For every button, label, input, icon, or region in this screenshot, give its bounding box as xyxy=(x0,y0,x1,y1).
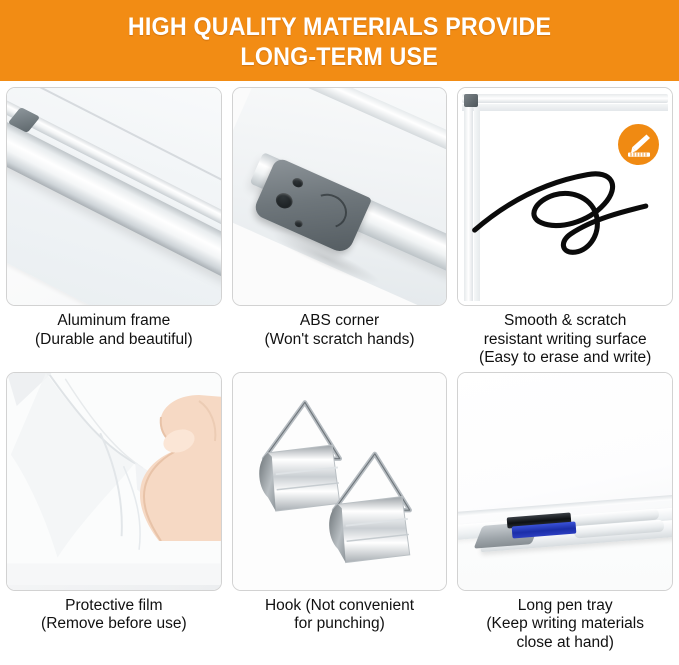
caption-line: for punching) xyxy=(232,615,448,634)
marker-and-eraser-icon xyxy=(624,130,654,160)
hand-peeling-film-icon xyxy=(107,391,222,541)
photo-protective-film xyxy=(6,372,222,591)
caption-line: Aluminum frame xyxy=(6,312,222,331)
feature-cell-pen-tray: Long pen tray (Keep writing materials cl… xyxy=(457,372,673,653)
feature-row-bottom: Protective film (Remove before use) xyxy=(6,372,673,653)
caption-hook: Hook (Not convenient for punching) xyxy=(232,597,448,634)
caption-line: Smooth & scratch xyxy=(457,312,673,331)
photo-aluminum-frame xyxy=(6,87,222,306)
header-banner: HIGH QUALITY MATERIALS PROVIDE LONG-TERM… xyxy=(0,0,679,81)
caption-aluminum-frame: Aluminum frame (Durable and beautiful) xyxy=(6,312,222,349)
caption-line: Long pen tray xyxy=(457,597,673,616)
caption-pen-tray: Long pen tray (Keep writing materials cl… xyxy=(457,597,673,653)
banner-title-line-2: LONG-TERM USE xyxy=(241,42,438,72)
caption-line: (Won't scratch hands) xyxy=(232,331,448,350)
feature-row-top: Aluminum frame (Durable and beautiful) xyxy=(6,87,673,368)
feature-grid: Aluminum frame (Durable and beautiful) xyxy=(0,81,679,652)
feature-cell-writing-surface: Smooth & scratch resistant writing surfa… xyxy=(457,87,673,368)
screw-hole-icon xyxy=(291,176,305,189)
caption-line: resistant writing surface xyxy=(457,331,673,350)
screw-hole-icon xyxy=(294,219,304,229)
caption-line: (Keep writing materials xyxy=(457,615,673,634)
screw-hole-icon xyxy=(274,190,296,211)
caption-writing-surface: Smooth & scratch resistant writing surfa… xyxy=(457,312,673,368)
feature-cell-hook: Hook (Not convenient for punching) xyxy=(232,372,448,653)
caption-line: close at hand) xyxy=(457,634,673,653)
caption-line: (Remove before use) xyxy=(6,615,222,634)
frame-top-rail xyxy=(462,94,668,103)
feature-cell-aluminum-frame: Aluminum frame (Durable and beautiful) xyxy=(6,87,222,368)
caption-line: ABS corner xyxy=(232,312,448,331)
photo-writing-surface xyxy=(457,87,673,306)
photo-abs-corner xyxy=(232,87,448,306)
photo-pen-tray xyxy=(457,372,673,591)
photo-hook xyxy=(232,372,448,591)
banner-title-line-1: HIGH QUALITY MATERIALS PROVIDE xyxy=(128,12,551,42)
feature-cell-abs-corner: ABS corner (Won't scratch hands) xyxy=(232,87,448,368)
caption-line: (Durable and beautiful) xyxy=(6,331,222,350)
feature-cell-protective-film: Protective film (Remove before use) xyxy=(6,372,222,653)
corner-arc-groove xyxy=(305,188,354,235)
caption-abs-corner: ABS corner (Won't scratch hands) xyxy=(232,312,448,349)
frame-top-inner-rail xyxy=(462,104,668,111)
caption-protective-film: Protective film (Remove before use) xyxy=(6,597,222,634)
hanging-hooks-icon xyxy=(233,373,447,590)
caption-line: (Easy to erase and write) xyxy=(457,349,673,368)
status-badge xyxy=(618,124,659,165)
caption-line: Hook (Not convenient xyxy=(232,597,448,616)
corner-bracket-icon xyxy=(464,94,478,107)
caption-line: Protective film xyxy=(6,597,222,616)
